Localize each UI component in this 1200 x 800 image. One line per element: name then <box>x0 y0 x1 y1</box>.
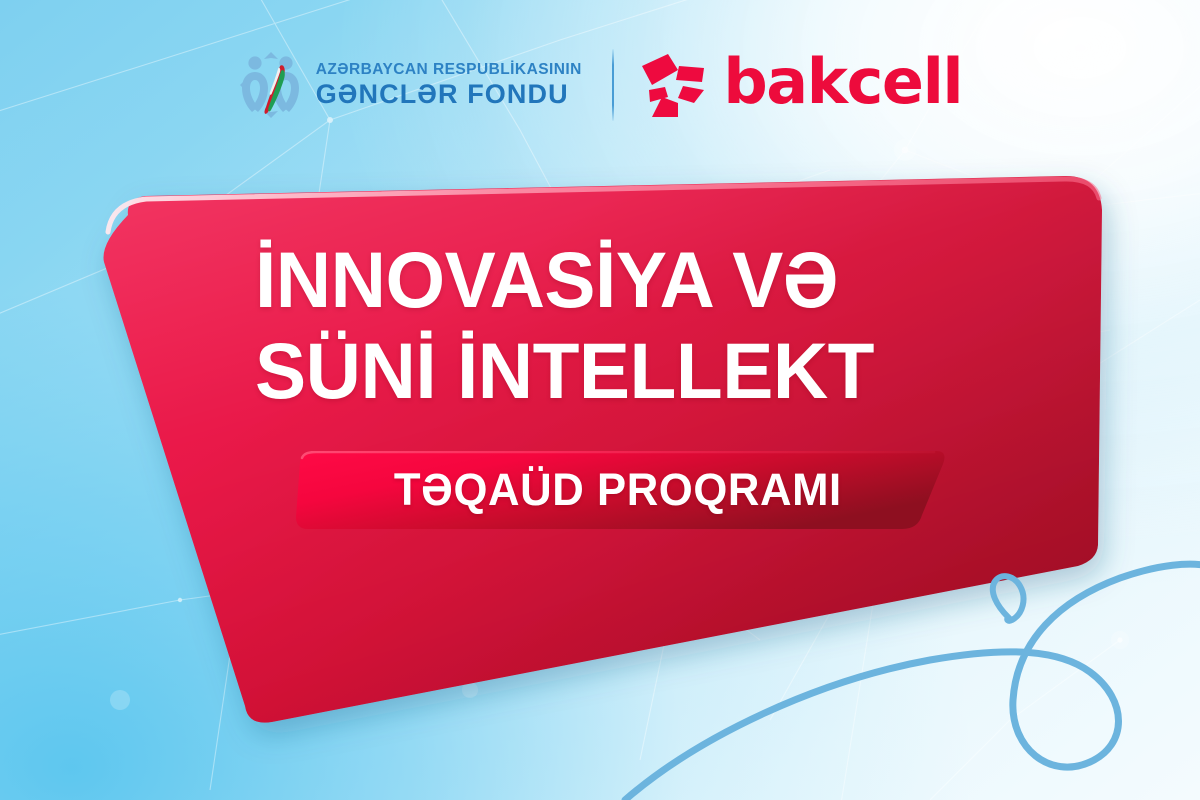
red-angled-banner <box>0 0 1200 800</box>
poster-canvas: AZƏRBAYCAN RESPUBLİKASININ GƏNCLƏR FONDU… <box>0 0 1200 800</box>
